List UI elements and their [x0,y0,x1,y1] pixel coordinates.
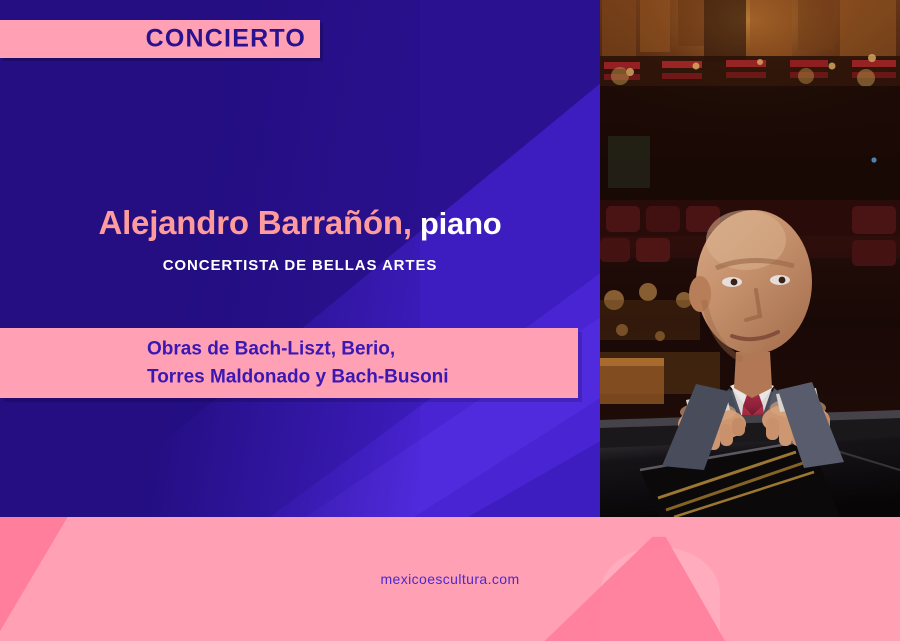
program-line-1: Obras de Bach-Liszt, Berio, [147,335,449,363]
artist-name: Alejandro Barrañón, [98,204,411,241]
website-url: mexicoescultura.com [380,571,519,587]
category-banner: CONCIERTO [0,20,320,58]
artist-subtitle: CONCERTISTA DE BELLAS ARTES [0,257,600,274]
program-text: Obras de Bach-Liszt, Berio, Torres Maldo… [147,335,449,390]
program-line-2: Torres Maldonado y Bach-Busoni [147,363,449,391]
website-link[interactable]: mexicoescultura.com [0,517,900,641]
poster-footer: mexicoescultura.com [0,517,900,641]
program-banner: Obras de Bach-Liszt, Berio, Torres Maldo… [0,328,578,398]
concert-poster: CONCIERTO Alejandro Barrañón,piano CONCE… [0,0,900,641]
category-banner-label: CONCIERTO [146,25,306,54]
artist-photo-illustration [600,0,900,517]
page-title: Alejandro Barrañón,piano [0,206,600,239]
artist-photo [600,0,900,517]
instrument-label: piano [412,206,502,241]
